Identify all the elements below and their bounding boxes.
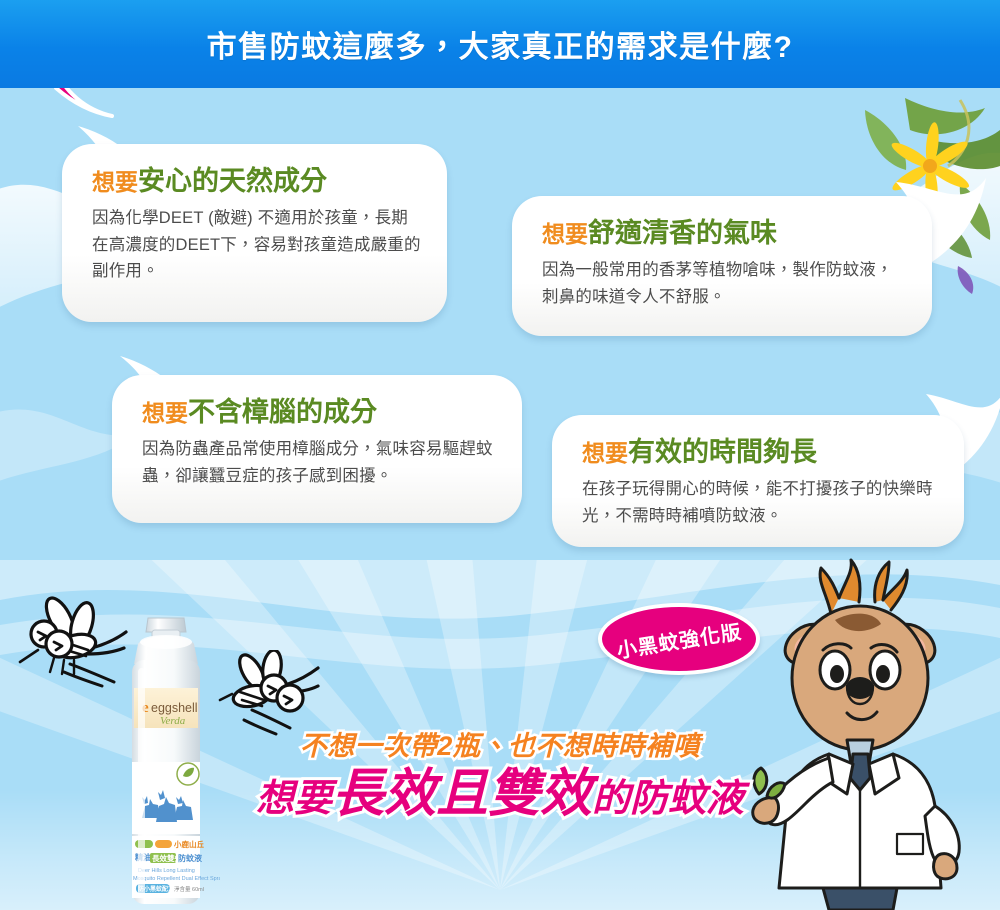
headline-part-1: 想要 — [256, 778, 332, 820]
svg-text:小鹿山丘: 小鹿山丘 — [174, 839, 204, 849]
bubble-heading-prefix: 想要 — [542, 221, 588, 247]
page-title: 市售防蚊這麼多，大家真正的需求是什麼? — [207, 22, 794, 66]
headline-line-2: 想要長效且雙效的防蚊液 — [200, 766, 800, 823]
bubble-heading-prefix: 想要 — [92, 169, 138, 195]
bubble-body-text: 在孩子玩得開心的時候，能不打擾孩子的快樂時光，不需時時補噴防蚊液。 — [582, 476, 938, 529]
svg-text:Mosquito Repellent Dual Effect: Mosquito Repellent Dual Effect Spray — [133, 876, 220, 882]
bubble-heading: 想要不含樟腦的成分 — [142, 397, 496, 429]
svg-text:Verda: Verda — [160, 715, 186, 727]
marketing-page: 市售防蚊這麼多，大家真正的需求是什麼? — [0, 0, 1000, 910]
bubble-heading-prefix: 想要 — [142, 400, 188, 426]
bubble-heading-main: 有效的時間夠長 — [628, 437, 817, 467]
mosquito-icon — [218, 650, 323, 738]
svg-text:防蚊液: 防蚊液 — [178, 853, 203, 863]
headline-line-1: 不想一次帶2瓶、也不想時時補噴 — [200, 730, 800, 764]
svg-text:淨含量 60ml: 淨含量 60ml — [174, 885, 204, 893]
pink-callout-badge[interactable]: 小黑蚊強化版 — [598, 603, 760, 675]
bubble-body-text: 因為化學DEET (敵避) 不適用於孩童，長期在高濃度的DEET下，容易對孩童造… — [92, 205, 421, 285]
bubble-body-text: 因為一般常用的香茅等植物嗆味，製作防蚊液，刺鼻的味道令人不舒服。 — [542, 257, 906, 310]
bubble-heading-main: 舒適清香的氣味 — [588, 218, 777, 248]
need-bubble-camphor-free[interactable]: 想要不含樟腦的成分 因為防蟲產品常使用樟腦成分，氣味容易驅趕蚊蟲，卻讓蠶豆症的孩… — [112, 375, 522, 523]
bubble-heading: 想要舒適清香的氣味 — [542, 218, 906, 250]
bubble-heading-prefix: 想要 — [582, 440, 628, 466]
page-header-bar: 市售防蚊這麼多，大家真正的需求是什麼? — [0, 0, 1000, 88]
main-headline: 不想一次帶2瓶、也不想時時補噴 想要長效且雙效的防蚊液 — [200, 730, 800, 823]
bubble-heading-main: 不含樟腦的成分 — [188, 397, 377, 427]
svg-text:Deer Hills Long Lasting: Deer Hills Long Lasting — [138, 868, 195, 874]
need-bubble-natural-ingredients[interactable]: 想要安心的天然成分 因為化學DEET (敵避) 不適用於孩童，長期在高濃度的DE… — [62, 144, 447, 322]
bottle-bottom-label: 小鹿山丘 精油 長效雙效 防蚊液 Deer Hills Long Lasting… — [132, 836, 220, 898]
need-bubble-long-lasting[interactable]: 想要有效的時間夠長 在孩子玩得開心的時候，能不打擾孩子的快樂時光，不需時時補噴防… — [552, 415, 964, 547]
bubble-heading-main: 安心的天然成分 — [138, 166, 327, 196]
bubble-body-text: 因為防蟲產品常使用樟腦成分，氣味容易驅趕蚊蟲，卻讓蠶豆症的孩子感到困擾。 — [142, 436, 496, 489]
need-bubble-pleasant-scent[interactable]: 想要舒適清香的氣味 因為一般常用的香茅等植物嗆味，製作防蚊液，刺鼻的味道令人不舒… — [512, 196, 932, 336]
pink-callout-label: 小黑蚊強化版 — [593, 591, 764, 687]
headline-part-2: 長效且雙效 — [332, 765, 592, 823]
bubble-heading: 想要有效的時間夠長 — [582, 437, 938, 469]
bubble-heading: 想要安心的天然成分 — [92, 166, 421, 198]
headline-part-3: 的防蚊液 — [592, 778, 744, 820]
svg-text:eggshell: eggshell — [151, 701, 198, 715]
